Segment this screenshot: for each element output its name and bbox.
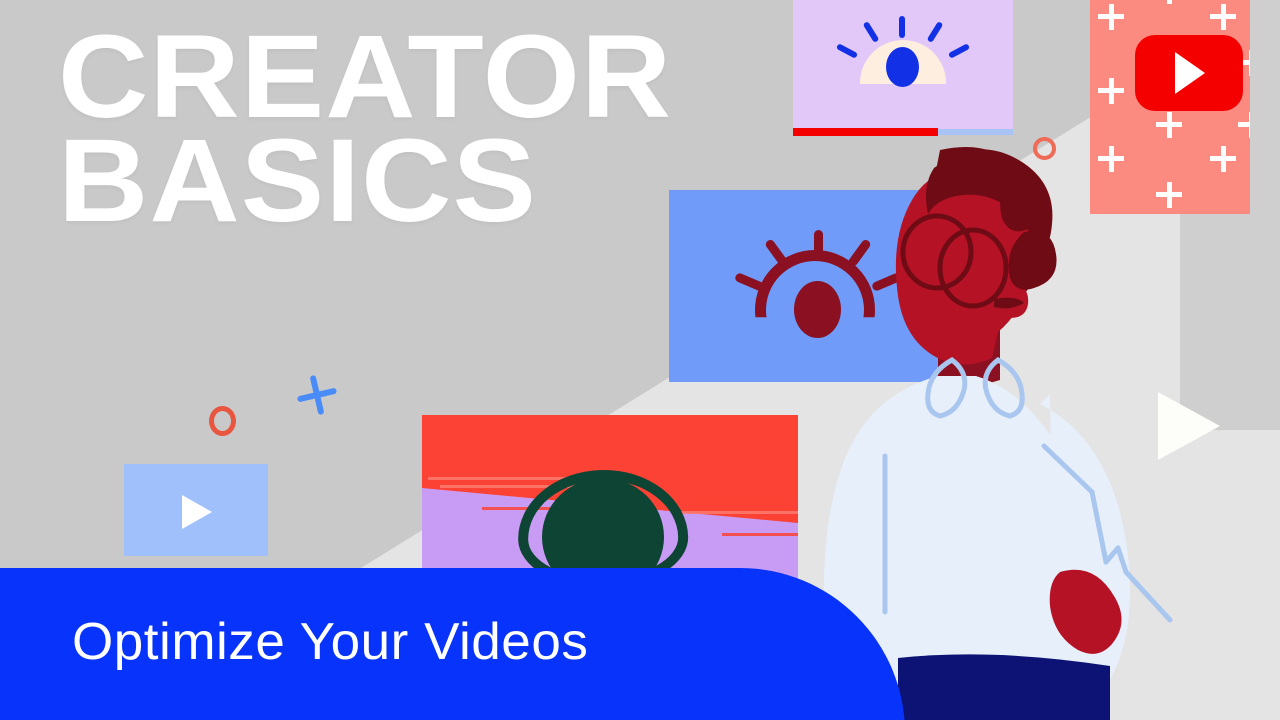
thumbnail-canvas: CREATOR BASICS Optimize Your Videos — [0, 0, 1280, 720]
headline-line-2: BASICS — [58, 130, 800, 234]
banner-title: Optimize Your Videos — [72, 612, 588, 672]
page-title: CREATOR BASICS — [58, 26, 800, 234]
